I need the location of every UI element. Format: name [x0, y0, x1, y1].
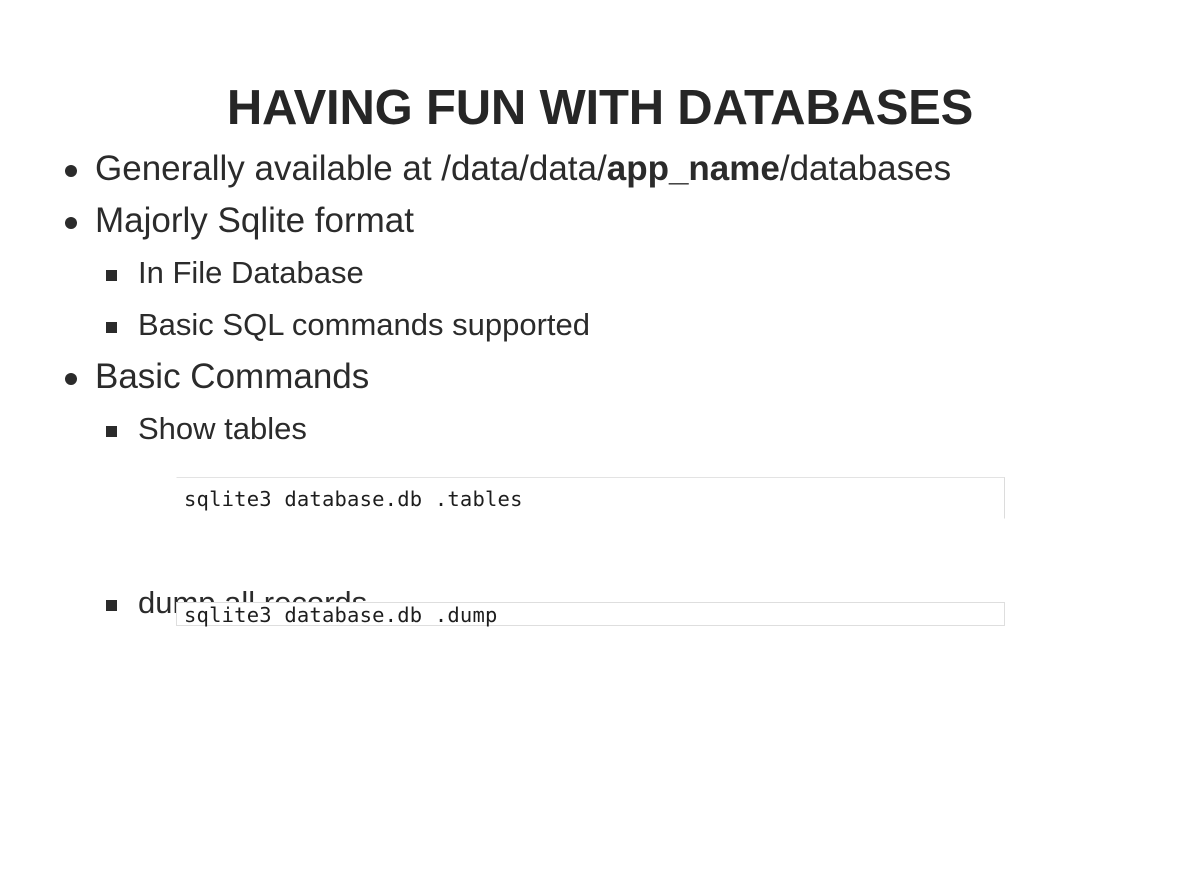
slide-canvas: HAVING FUN WITH DATABASES Generally avai…	[0, 0, 1200, 891]
slide-body: Generally available at /data/data/app_na…	[0, 143, 1200, 629]
list-item-label: In File Database	[138, 255, 364, 290]
round-bullet-icon	[65, 351, 78, 403]
list-item: Majorly Sqlite format	[0, 195, 1200, 247]
list-item-label: Basic Commands	[95, 357, 369, 396]
list-item: Basic SQL commands supported	[0, 299, 1200, 351]
round-bullet-icon	[65, 195, 78, 247]
list-item: Show tables	[0, 403, 1200, 455]
code-block-dump[interactable]: sqlite3 database.db .dump	[176, 602, 1005, 626]
page-title: HAVING FUN WITH DATABASES	[0, 80, 1200, 136]
list-item-label: Show tables	[138, 411, 307, 446]
list-item: Generally available at /data/data/app_na…	[0, 143, 1200, 195]
square-bullet-icon	[106, 403, 118, 455]
code-text: sqlite3 database.db .tables	[177, 478, 1004, 519]
list-item-text-emphasis: app_name	[607, 149, 780, 188]
square-bullet-icon	[106, 247, 118, 299]
list-item-label: Basic SQL commands supported	[138, 307, 590, 342]
square-bullet-icon	[106, 577, 118, 629]
list-item-label: Majorly Sqlite format	[95, 201, 414, 240]
list-item-text-part: Generally available at /data/data/	[95, 149, 607, 188]
list-item: Basic Commands	[0, 351, 1200, 403]
code-block-tables[interactable]: sqlite3 database.db .tables	[176, 477, 1005, 519]
list-item: In File Database	[0, 247, 1200, 299]
code-text: sqlite3 database.db .dump	[177, 603, 1004, 626]
list-item-text-part: /databases	[780, 149, 951, 188]
round-bullet-icon	[65, 143, 78, 195]
square-bullet-icon	[106, 299, 118, 351]
